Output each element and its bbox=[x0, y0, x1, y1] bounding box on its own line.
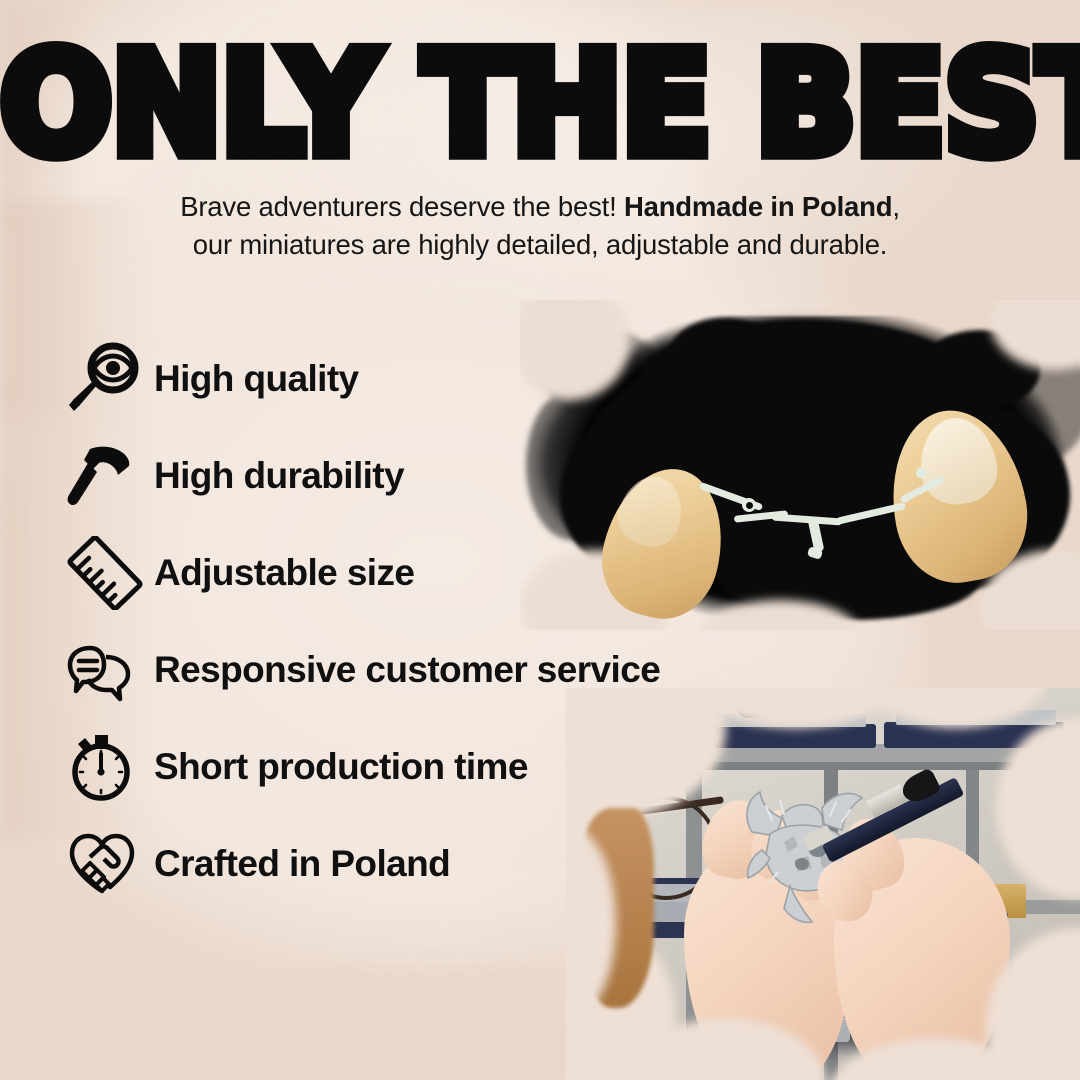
flexible-miniature-photo bbox=[520, 300, 1080, 630]
list-item-label: High quality bbox=[154, 358, 359, 400]
poster-canvas: ONLY THE BEST Brave adventurers deserve … bbox=[0, 0, 1080, 1080]
photo-inner bbox=[566, 688, 1080, 1080]
subtitle-line-1: Brave adventurers deserve the best! Hand… bbox=[180, 191, 900, 222]
list-item-label: Short production time bbox=[154, 746, 528, 788]
photo-inner bbox=[520, 300, 1080, 630]
magnifier-eye-icon bbox=[62, 340, 148, 418]
ruler-icon bbox=[62, 534, 148, 612]
subtitle: Brave adventurers deserve the best! Hand… bbox=[0, 188, 1080, 264]
list-item-label: Responsive customer service bbox=[154, 649, 660, 691]
subtitle-tail: , bbox=[892, 191, 899, 222]
list-item-label: Adjustable size bbox=[154, 552, 414, 594]
hammer-icon bbox=[62, 437, 148, 515]
list-item-label: Crafted in Poland bbox=[154, 843, 450, 885]
subtitle-line-2: our miniatures are highly detailed, adju… bbox=[193, 229, 888, 260]
heart-handshake-icon bbox=[62, 825, 148, 903]
stopwatch-icon bbox=[62, 728, 148, 806]
speech-bubbles-icon bbox=[62, 631, 148, 709]
subtitle-lead: Brave adventurers deserve the best! bbox=[180, 191, 624, 222]
list-item-label: High durability bbox=[154, 455, 404, 497]
page-title: ONLY THE BEST bbox=[0, 34, 1080, 175]
painting-workshop-photo bbox=[566, 688, 1080, 1080]
subtitle-highlight: Handmade in Poland bbox=[624, 191, 892, 222]
